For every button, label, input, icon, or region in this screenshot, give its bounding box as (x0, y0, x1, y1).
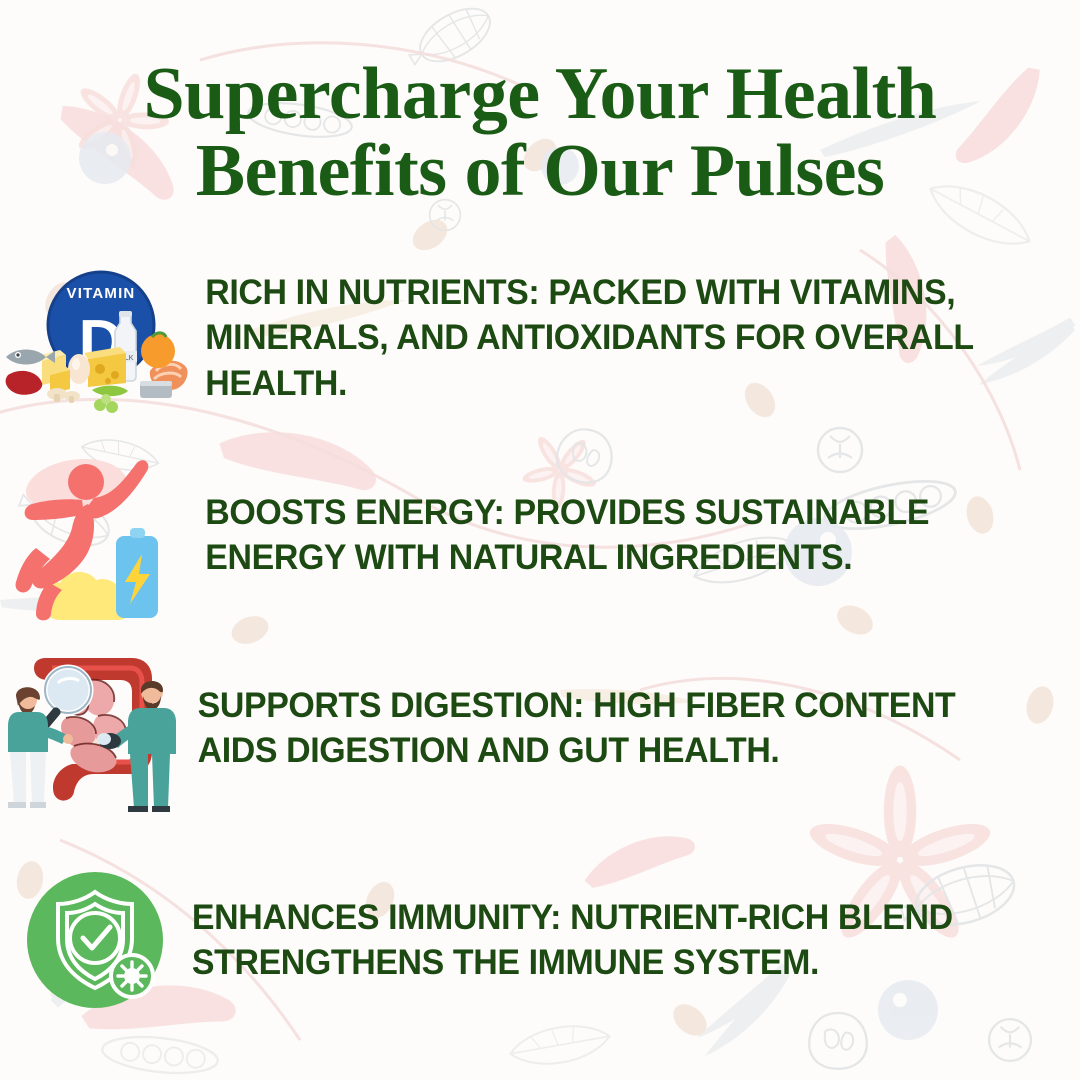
benefit-icon-wrapper-immunity (0, 852, 190, 1028)
benefit-icon-wrapper-nutrients: VITAMIN D MILK (0, 263, 190, 413)
canned-fish-illustration (140, 381, 172, 398)
green-peas-illustration (92, 386, 128, 413)
benefit-icon-wrapper-digestion (0, 640, 190, 816)
benefit-text-digestion: SUPPORTS DIGESTION: HIGH FIBER CONTENT A… (190, 683, 1040, 774)
benefit-text-immunity: ENHANCES IMMUNITY: NUTRIENT-RICH BLEND S… (190, 895, 1040, 986)
red-meat-illustration (6, 371, 43, 395)
benefit-icon-wrapper-energy (0, 440, 190, 630)
benefit-text-nutrients: RICH IN NUTRIENTS: PACKED WITH VITAMINS,… (190, 270, 1040, 406)
vitamin-d-foods-icon: VITAMIN D MILK (0, 263, 190, 413)
doctors-examining-intestines-icon (0, 640, 190, 816)
benefit-item-energy: BOOSTS ENERGY: PROVIDES SUSTAINABLE ENER… (0, 440, 1080, 630)
benefit-item-nutrients: VITAMIN D MILK (0, 262, 1080, 414)
vitamin-word-label: VITAMIN (67, 285, 136, 302)
title-line-2: Benefits of Our Pulses (0, 135, 1080, 208)
mushroom-illustration (47, 388, 80, 403)
jumping-person-battery-icon (0, 440, 190, 630)
benefit-item-digestion: SUPPORTS DIGESTION: HIGH FIBER CONTENT A… (0, 640, 1080, 816)
virus-badge-icon (111, 955, 153, 997)
cheese-wedge-illustration (84, 347, 126, 387)
battery-illustration (116, 528, 158, 618)
infographic-page: Supercharge Your Health Benefits of Our … (0, 0, 1080, 1080)
shield-check-virus-icon (0, 852, 190, 1028)
benefit-item-immunity: ENHANCES IMMUNITY: NUTRIENT-RICH BLEND S… (0, 852, 1080, 1028)
page-title: Supercharge Your Health Benefits of Our … (0, 58, 1080, 207)
benefit-text-energy: BOOSTS ENERGY: PROVIDES SUSTAINABLE ENER… (190, 490, 1040, 581)
egg-illustration (68, 354, 90, 384)
title-line-1: Supercharge Your Health (0, 58, 1080, 131)
